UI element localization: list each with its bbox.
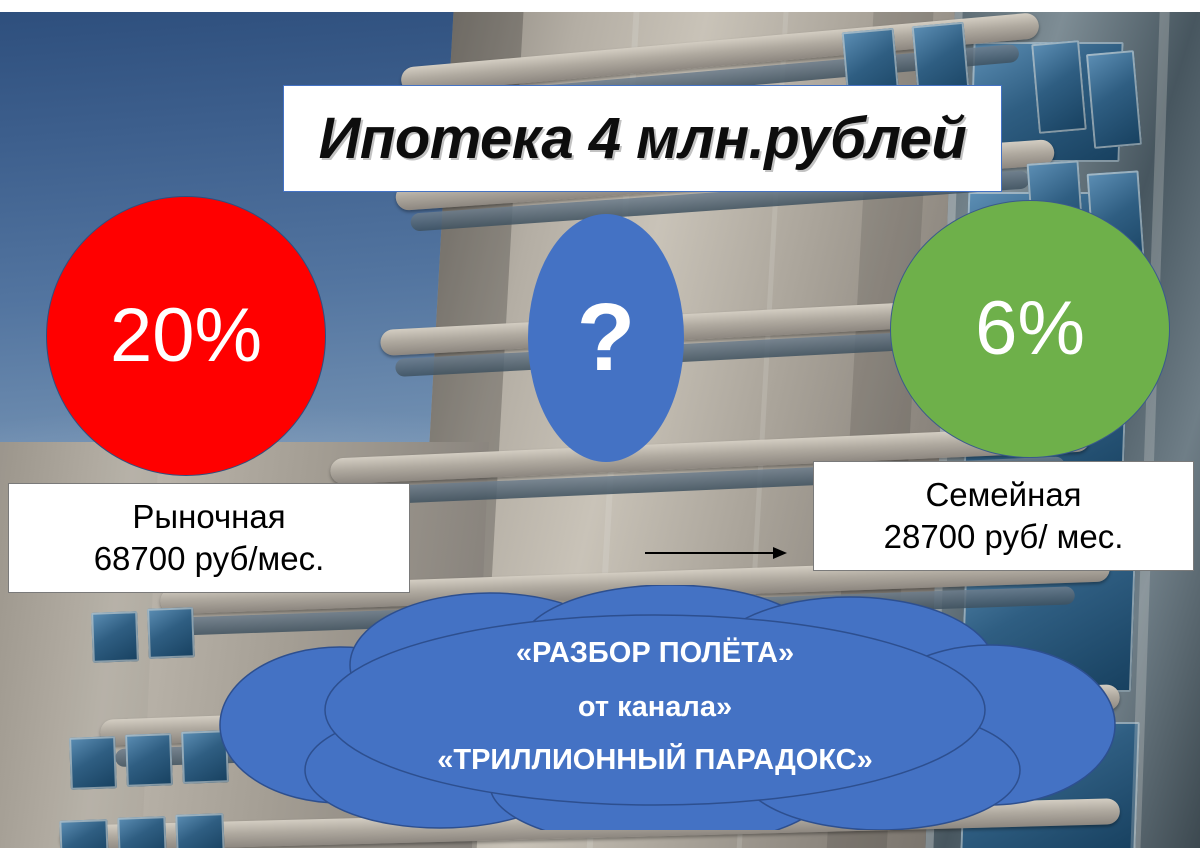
rate-circle-market[interactable]: 20% bbox=[46, 196, 326, 476]
label-market-payment: 68700 руб/мес. bbox=[94, 538, 325, 580]
slide-canvas: Ипотека 4 млн.рублей 20% ? 6% Рыночная 6… bbox=[0, 0, 1200, 848]
question-mark-ellipse[interactable]: ? bbox=[528, 214, 684, 462]
facade-window bbox=[147, 607, 195, 659]
title-box: Ипотека 4 млн.рублей bbox=[283, 85, 1002, 192]
facade-window bbox=[69, 736, 117, 790]
facade-window bbox=[59, 819, 108, 848]
label-market-name: Рыночная bbox=[132, 496, 285, 538]
facade-window bbox=[117, 816, 166, 848]
facade-window bbox=[91, 611, 139, 663]
rate-circle-family[interactable]: 6% bbox=[890, 200, 1170, 458]
rate-value-family: 6% bbox=[975, 291, 1085, 367]
facade-window bbox=[1031, 40, 1087, 134]
page-title: Ипотека 4 млн.рублей bbox=[319, 105, 967, 172]
rate-value-market: 20% bbox=[110, 298, 262, 374]
arrow-right-icon bbox=[645, 545, 787, 561]
question-mark-symbol: ? bbox=[577, 290, 636, 386]
label-box-family: Семейная 28700 руб/ мес. bbox=[813, 461, 1194, 571]
cloud-callout-shape bbox=[190, 585, 1120, 830]
label-family-payment: 28700 руб/ мес. bbox=[884, 516, 1124, 558]
label-box-market: Рыночная 68700 руб/мес. bbox=[8, 483, 410, 593]
top-white-strip bbox=[0, 0, 1200, 12]
facade-window bbox=[125, 733, 173, 787]
label-family-name: Семейная bbox=[925, 474, 1081, 516]
facade-window bbox=[1086, 50, 1142, 149]
